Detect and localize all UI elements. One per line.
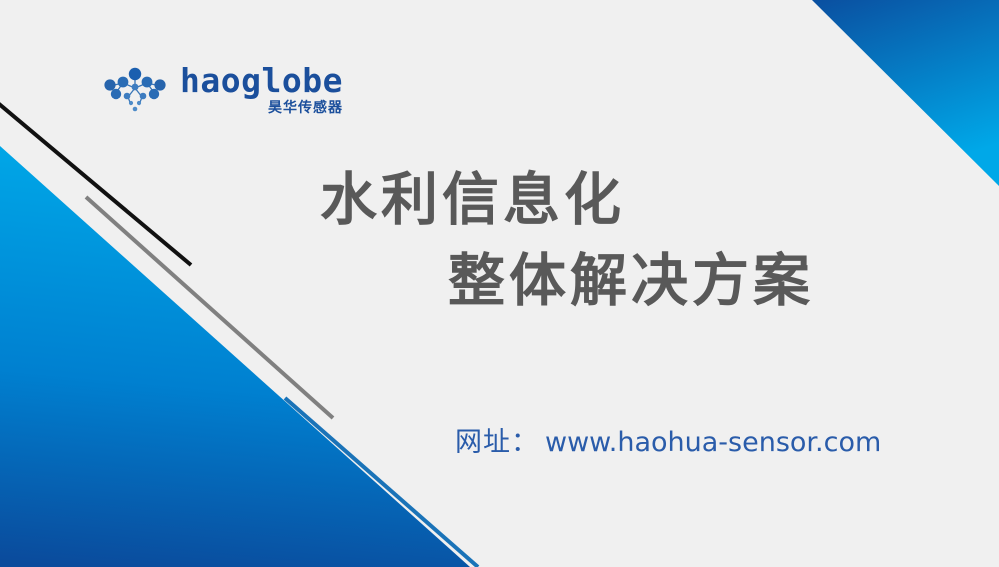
blue-diagonal-line <box>285 398 478 567</box>
haoglobe-network-nodes-logo-icon <box>98 63 172 115</box>
website-label: 网址： <box>455 420 539 459</box>
website-line: 网址： www.haohua-sensor.com <box>455 420 881 459</box>
logo-text-block: haoglobe 昊华传感器 <box>180 64 343 115</box>
logo-wordmark: haoglobe <box>180 64 343 97</box>
title-line-2: 整体解决方案 <box>300 241 900 322</box>
title-slide: haoglobe 昊华传感器 水利信息化 整体解决方案 网址： www.haoh… <box>0 0 999 567</box>
title-line-1: 水利信息化 <box>300 160 900 241</box>
slide-title: 水利信息化 整体解决方案 <box>300 160 900 322</box>
company-logo: haoglobe 昊华传感器 <box>98 58 328 120</box>
top-right-blue-triangle <box>812 0 999 186</box>
logo-subtitle: 昊华传感器 <box>268 101 343 115</box>
website-url[interactable]: www.haohua-sensor.com <box>545 427 881 458</box>
gray-diagonal-line <box>86 197 333 418</box>
